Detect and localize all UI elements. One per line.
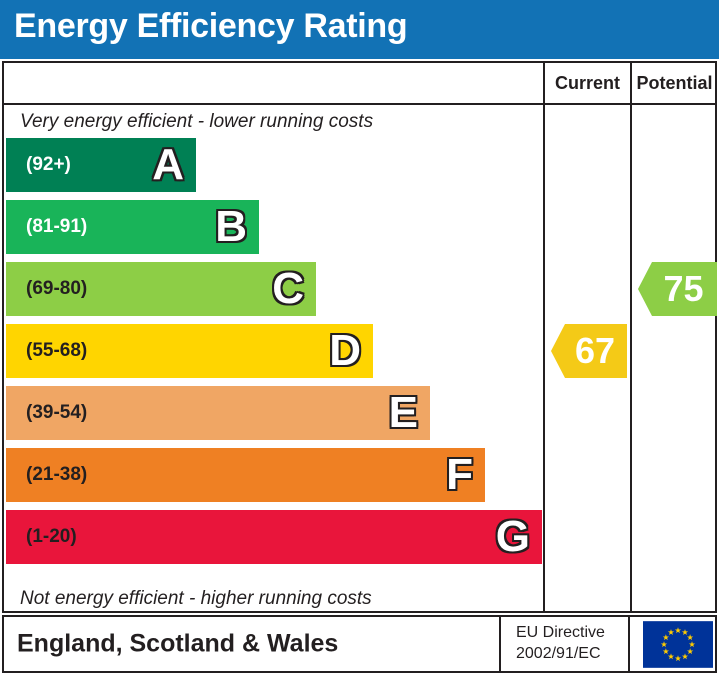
band-d: (55-68)D — [6, 324, 373, 378]
current-column-divider — [543, 63, 545, 611]
caption-efficient: Very energy efficient - lower running co… — [20, 111, 373, 133]
band-d-letter: D — [329, 329, 361, 373]
current-rating-marker: 67 — [551, 324, 627, 378]
potential-column-divider — [630, 63, 632, 611]
band-d-range: (55-68) — [26, 340, 87, 362]
band-e-range: (39-54) — [26, 402, 87, 424]
current-rating-value: 67 — [575, 333, 615, 369]
band-c: (69-80)C — [6, 262, 316, 316]
band-f-letter: F — [446, 453, 473, 497]
potential-column-header: Potential — [632, 63, 717, 103]
band-a: (92+)A — [6, 138, 196, 192]
energy-efficiency-rating-chart: Energy Efficiency Rating Current Potenti… — [0, 0, 719, 675]
band-c-letter: C — [272, 267, 304, 311]
band-f-range: (21-38) — [26, 464, 87, 486]
band-g-letter: G — [496, 515, 530, 559]
eu-flag-svg — [643, 621, 713, 668]
band-e: (39-54)E — [6, 386, 430, 440]
title-bar: Energy Efficiency Rating — [0, 0, 719, 59]
eu-directive-line1: EU Directive — [516, 623, 605, 644]
potential-rating-marker: 75 — [638, 262, 717, 316]
eu-directive-line2: 2002/91/EC — [516, 644, 605, 665]
caption-inefficient: Not energy efficient - higher running co… — [20, 588, 372, 610]
band-f: (21-38)F — [6, 448, 485, 502]
band-c-range: (69-80) — [26, 278, 87, 300]
band-e-letter: E — [389, 391, 418, 435]
band-a-range: (92+) — [26, 154, 71, 176]
potential-rating-value: 75 — [663, 271, 703, 307]
eu-directive-text: EU Directive 2002/91/EC — [516, 623, 605, 665]
header-divider — [4, 103, 715, 105]
band-b-range: (81-91) — [26, 216, 87, 238]
band-a-letter: A — [152, 143, 184, 187]
region-label: England, Scotland & Wales — [17, 630, 338, 659]
band-b-letter: B — [215, 205, 247, 249]
band-g: (1-20)G — [6, 510, 542, 564]
band-b: (81-91)B — [6, 200, 259, 254]
footer-divider-right — [628, 617, 630, 671]
footer-divider-left — [499, 617, 501, 671]
footer-bar: England, Scotland & Wales EU Directive 2… — [2, 615, 717, 673]
band-g-range: (1-20) — [26, 526, 77, 548]
current-column-header: Current — [545, 63, 630, 103]
eu-flag-icon — [642, 620, 714, 668]
rating-table: Current Potential Very energy efficient … — [2, 61, 717, 613]
page-title: Energy Efficiency Rating — [14, 7, 407, 46]
